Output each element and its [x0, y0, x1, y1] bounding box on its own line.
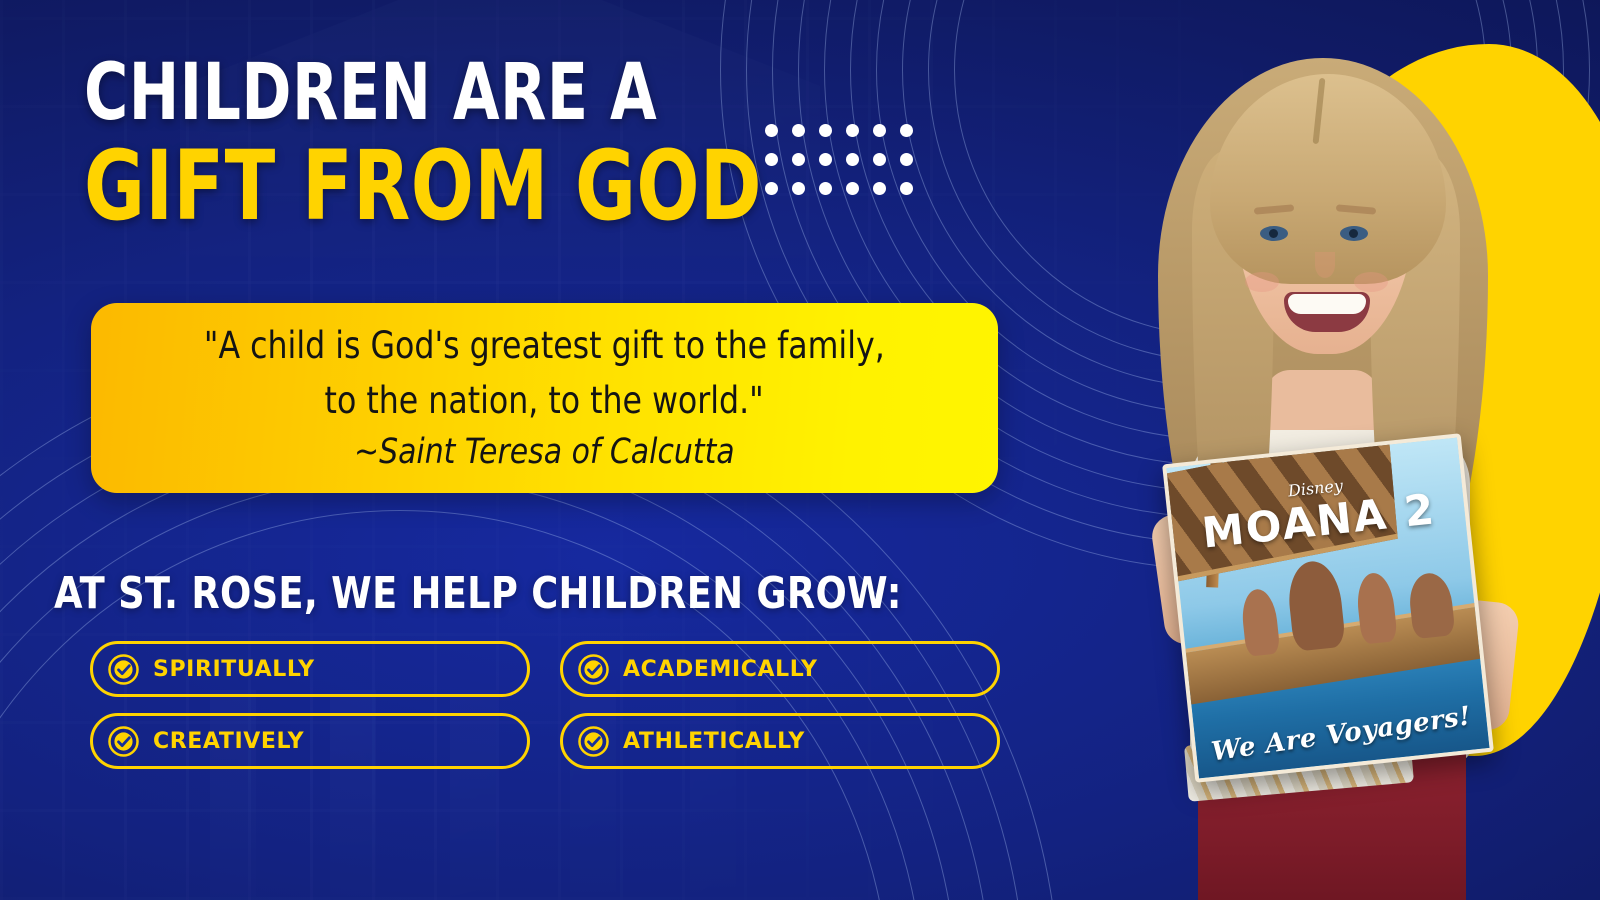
pill-label: CREATIVELY	[153, 729, 304, 754]
growth-areas-list: SPIRITUALLY ACADEMICALLY CREATIVELY	[90, 641, 1000, 769]
pill-athletically[interactable]: ATHLETICALLY	[560, 713, 1000, 769]
headline: CHILDREN ARE A GIFT FROM GOD	[84, 58, 872, 230]
eye-right	[1340, 226, 1368, 241]
pill-label: ACADEMICALLY	[623, 657, 817, 682]
pill-label: SPIRITUALLY	[153, 657, 315, 682]
subheading: AT ST. ROSE, WE HELP CHILDREN GROW:	[54, 568, 902, 619]
headline-line-2: GIFT FROM GOD	[84, 142, 762, 230]
pill-creatively[interactable]: CREATIVELY	[90, 713, 530, 769]
promo-banner: Disney MOANA 2 We Are Voyagers! CHILDREN…	[0, 0, 1600, 900]
quote-line-2: to the nation, to the world."	[325, 374, 764, 428]
eye-left	[1260, 226, 1288, 241]
quote-line-1: "A child is God's greatest gift to the f…	[204, 319, 885, 373]
quote-card: "A child is God's greatest gift to the f…	[91, 303, 998, 493]
headline-line-1: CHILDREN ARE A	[84, 58, 762, 130]
cheek-right	[1354, 272, 1388, 292]
pill-label: ATHLETICALLY	[623, 729, 805, 754]
check-circle-icon	[107, 653, 140, 686]
pill-academically[interactable]: ACADEMICALLY	[560, 641, 1000, 697]
check-circle-icon	[577, 653, 610, 686]
check-circle-icon	[107, 725, 140, 758]
pill-spiritually[interactable]: SPIRITUALLY	[90, 641, 530, 697]
check-circle-icon	[577, 725, 610, 758]
cheek-left	[1245, 272, 1279, 292]
nose	[1315, 252, 1335, 278]
moana-book-cover: Disney MOANA 2 We Are Voyagers!	[1162, 433, 1494, 783]
quote-attribution: ~Saint Teresa of Calcutta	[354, 428, 735, 477]
teeth	[1288, 294, 1366, 314]
